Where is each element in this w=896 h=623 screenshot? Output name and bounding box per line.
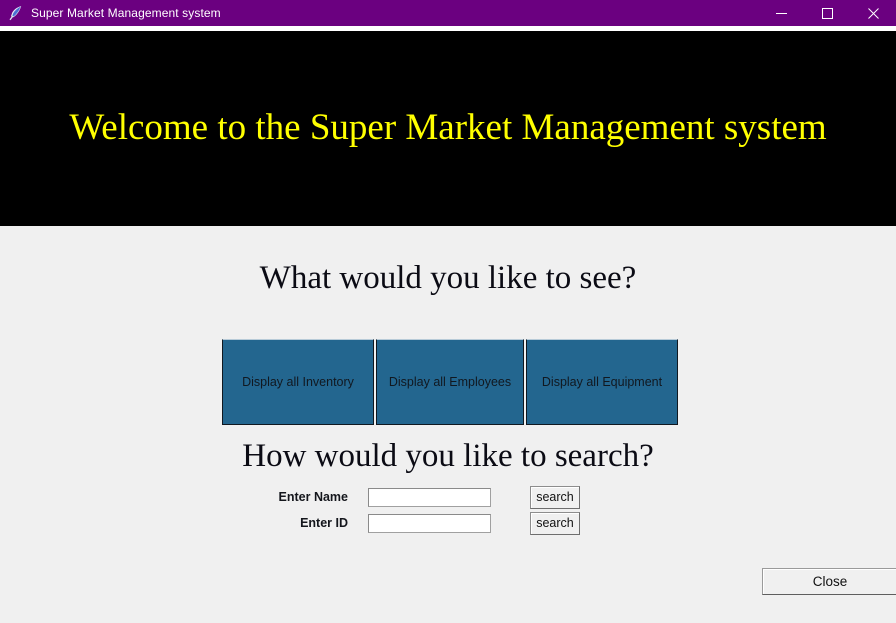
display-all-inventory-label: Display all Inventory xyxy=(242,375,354,389)
welcome-banner: Welcome to the Super Market Management s… xyxy=(0,31,896,226)
window-title: Super Market Management system xyxy=(31,6,221,20)
enter-name-label: Enter Name xyxy=(0,490,368,504)
enter-name-input[interactable] xyxy=(368,488,491,507)
enter-id-input[interactable] xyxy=(368,514,491,533)
display-all-inventory-button[interactable]: Display all Inventory xyxy=(222,339,374,425)
window-controls xyxy=(758,0,896,26)
minimize-icon[interactable] xyxy=(758,0,804,26)
close-icon[interactable] xyxy=(850,0,896,26)
welcome-text: Welcome to the Super Market Management s… xyxy=(69,108,826,149)
search-row-id: Enter ID search xyxy=(0,510,896,536)
heading-what-to-see: What would you like to see? xyxy=(0,260,896,297)
display-all-employees-button[interactable]: Display all Employees xyxy=(376,339,524,425)
search-form: Enter Name search Enter ID search xyxy=(0,484,896,536)
title-bar[interactable]: Super Market Management system xyxy=(0,0,896,26)
heading-how-to-search: How would you like to search? xyxy=(0,438,896,475)
close-button[interactable]: Close xyxy=(762,568,896,595)
main-content: What would you like to see? Display all … xyxy=(0,226,896,623)
maximize-icon[interactable] xyxy=(804,0,850,26)
display-button-row: Display all Inventory Display all Employ… xyxy=(222,339,678,425)
display-all-equipment-button[interactable]: Display all Equipment xyxy=(526,339,678,425)
feather-quill-icon xyxy=(5,2,27,24)
search-by-id-button[interactable]: search xyxy=(530,512,580,535)
display-all-equipment-label: Display all Equipment xyxy=(542,375,662,389)
search-by-name-button[interactable]: search xyxy=(530,486,580,509)
display-all-employees-label: Display all Employees xyxy=(389,375,511,389)
enter-id-label: Enter ID xyxy=(0,516,368,530)
search-row-name: Enter Name search xyxy=(0,484,896,510)
